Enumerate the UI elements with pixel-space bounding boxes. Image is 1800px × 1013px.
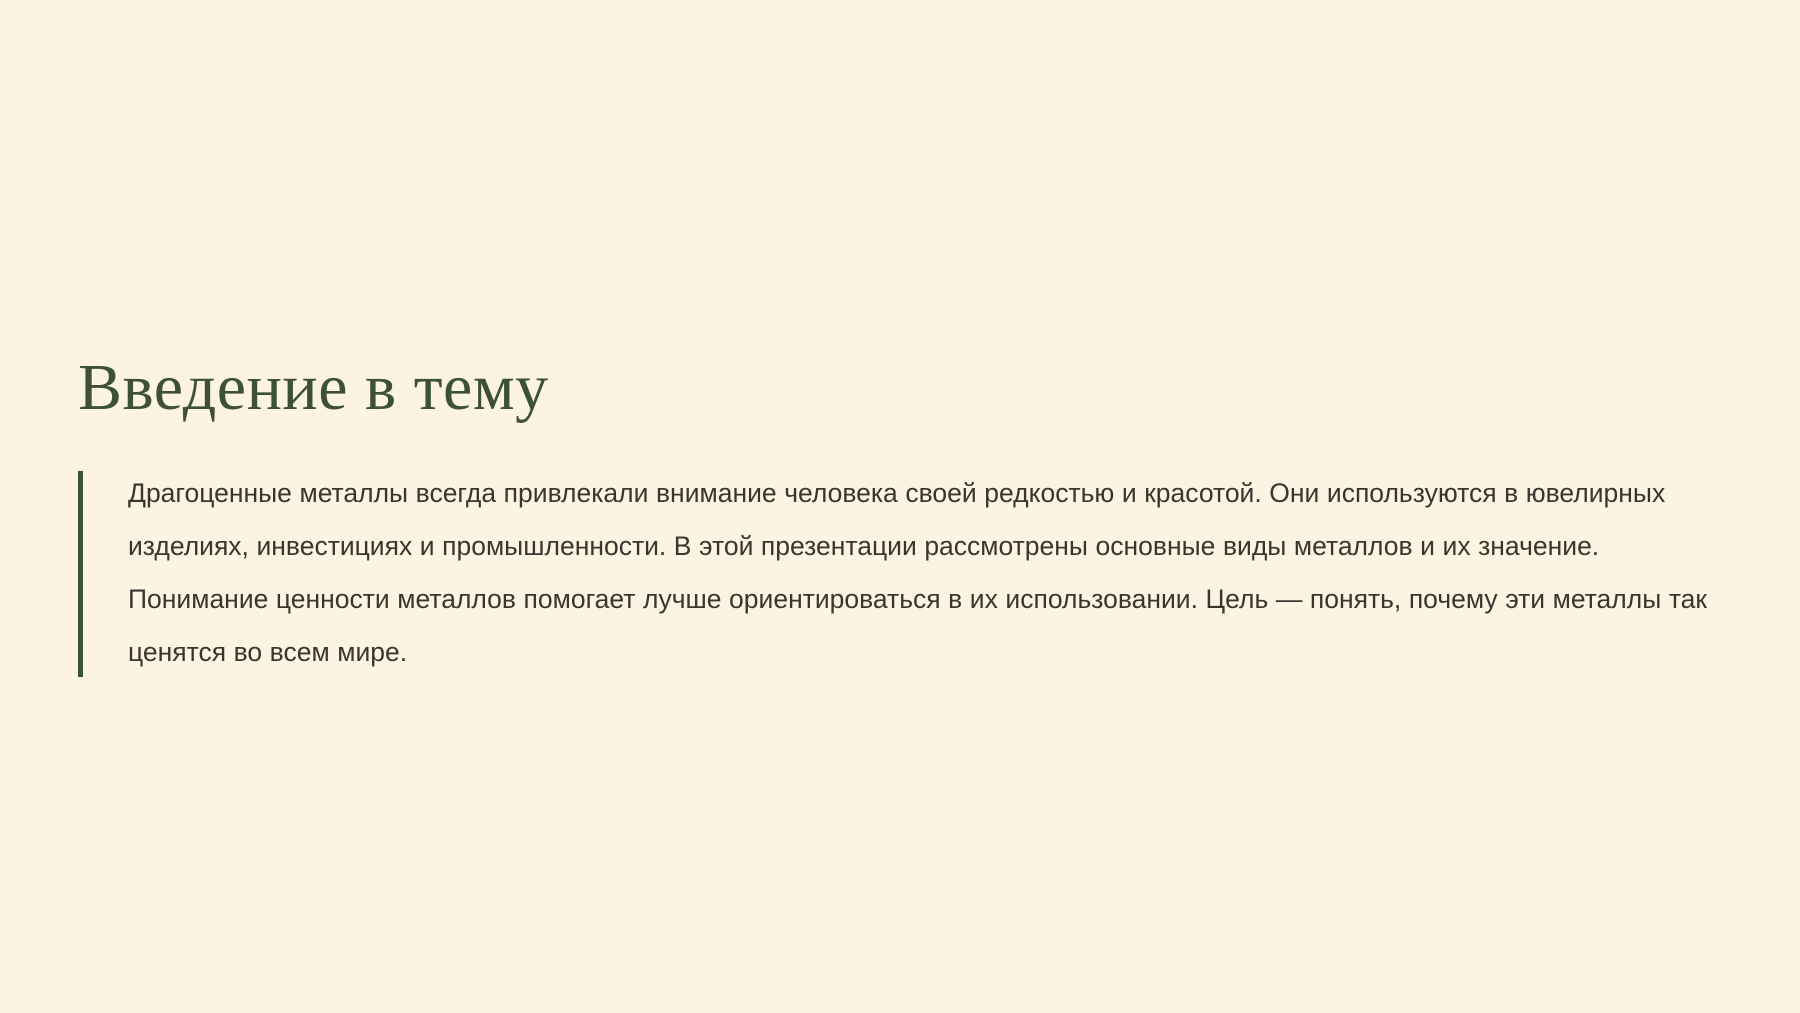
body-block: Драгоценные металлы всегда привлекали вн… xyxy=(78,467,1738,679)
slide-content: Введение в тему Драгоценные металлы всег… xyxy=(78,352,1738,679)
body-paragraph: Драгоценные металлы всегда привлекали вн… xyxy=(128,467,1738,679)
page-title: Введение в тему xyxy=(78,352,1738,423)
accent-bar xyxy=(78,471,83,677)
slide-canvas: Введение в тему Драгоценные металлы всег… xyxy=(0,0,1800,1013)
